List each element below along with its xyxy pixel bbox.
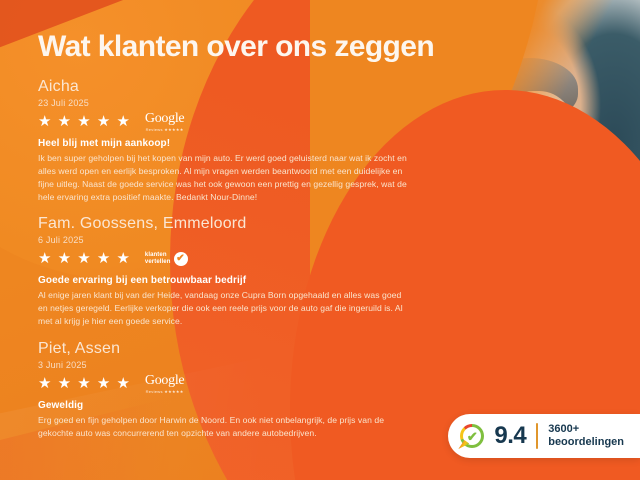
klantenvertellen-seal-icon: ✔ [460, 424, 484, 448]
klantenvertellen-line-1: klanten [145, 252, 171, 259]
review-author-name: Piet, Assen [38, 340, 413, 358]
review-author-name: Fam. Goossens, Emmeloord [38, 215, 413, 233]
review-count-label: beoordelingen [548, 436, 624, 449]
google-logo-subtext: Reviews ★★★★★ [146, 389, 184, 394]
checkmark-icon: ✔ [176, 254, 184, 264]
review-date: 6 Juli 2025 [38, 235, 413, 245]
google-logo-wordmark: Google [145, 112, 184, 126]
klantenvertellen-logo: klanten vertellen ✔ [145, 252, 188, 266]
review-date: 3 Juni 2025 [38, 360, 413, 370]
review-body-text: Al enige jaren klant bij van der Heide, … [38, 289, 413, 328]
google-logo-wordmark: Google [145, 374, 184, 388]
seal-checkmark-icon: ✔ [467, 430, 478, 443]
star-rating-icons: ★ ★ ★ ★ ★ [38, 251, 131, 266]
star-rating-icons: ★ ★ ★ ★ ★ [38, 376, 131, 391]
star-rating-icons: ★ ★ ★ ★ ★ [38, 114, 131, 129]
content-layer: Wat klanten over ons zeggen Aicha 23 Jul… [0, 0, 640, 480]
klantenvertellen-wordmark: klanten vertellen [145, 252, 171, 266]
review-date: 23 Juli 2025 [38, 98, 413, 108]
review-rating-row: ★ ★ ★ ★ ★ Google Reviews ★★★★★ [38, 375, 413, 393]
review-headline: Goede ervaring bij een betrouwbaar bedri… [38, 275, 413, 286]
review-count: 3600+ [548, 423, 624, 436]
score-divider [536, 423, 538, 449]
review-headline: Geweldig [38, 400, 413, 411]
score-meta: 3600+ beoordelingen [548, 423, 624, 449]
klantenvertellen-line-2: vertellen [145, 259, 171, 266]
score-value: 9.4 [494, 424, 526, 448]
review-rating-row: ★ ★ ★ ★ ★ klanten vertellen ✔ [38, 250, 413, 268]
review-card-1: Aicha 23 Juli 2025 ★ ★ ★ ★ ★ Google Revi… [38, 78, 413, 204]
review-card-2: Fam. Goossens, Emmeloord 6 Juli 2025 ★ ★… [38, 215, 413, 328]
review-body-text: Erg goed en fijn geholpen door Harwin de… [38, 414, 413, 440]
review-rating-row: ★ ★ ★ ★ ★ Google Reviews ★★★★★ [38, 113, 413, 131]
page-title: Wat klanten over ons zeggen [38, 30, 434, 64]
check-circle-icon: ✔ [174, 252, 188, 266]
google-logo-subtext: Reviews ★★★★★ [146, 127, 184, 132]
google-reviews-logo: Google Reviews ★★★★★ [145, 112, 184, 132]
review-author-name: Aicha [38, 78, 413, 96]
review-card-3: Piet, Assen 3 Juni 2025 ★ ★ ★ ★ ★ Google… [38, 340, 413, 440]
google-reviews-logo: Google Reviews ★★★★★ [145, 374, 184, 394]
score-badge: ✔ 9.4 3600+ beoordelingen [448, 414, 640, 458]
review-body-text: Ik ben super geholpen bij het kopen van … [38, 152, 413, 204]
review-headline: Heel blij met mijn aankoop! [38, 138, 413, 149]
